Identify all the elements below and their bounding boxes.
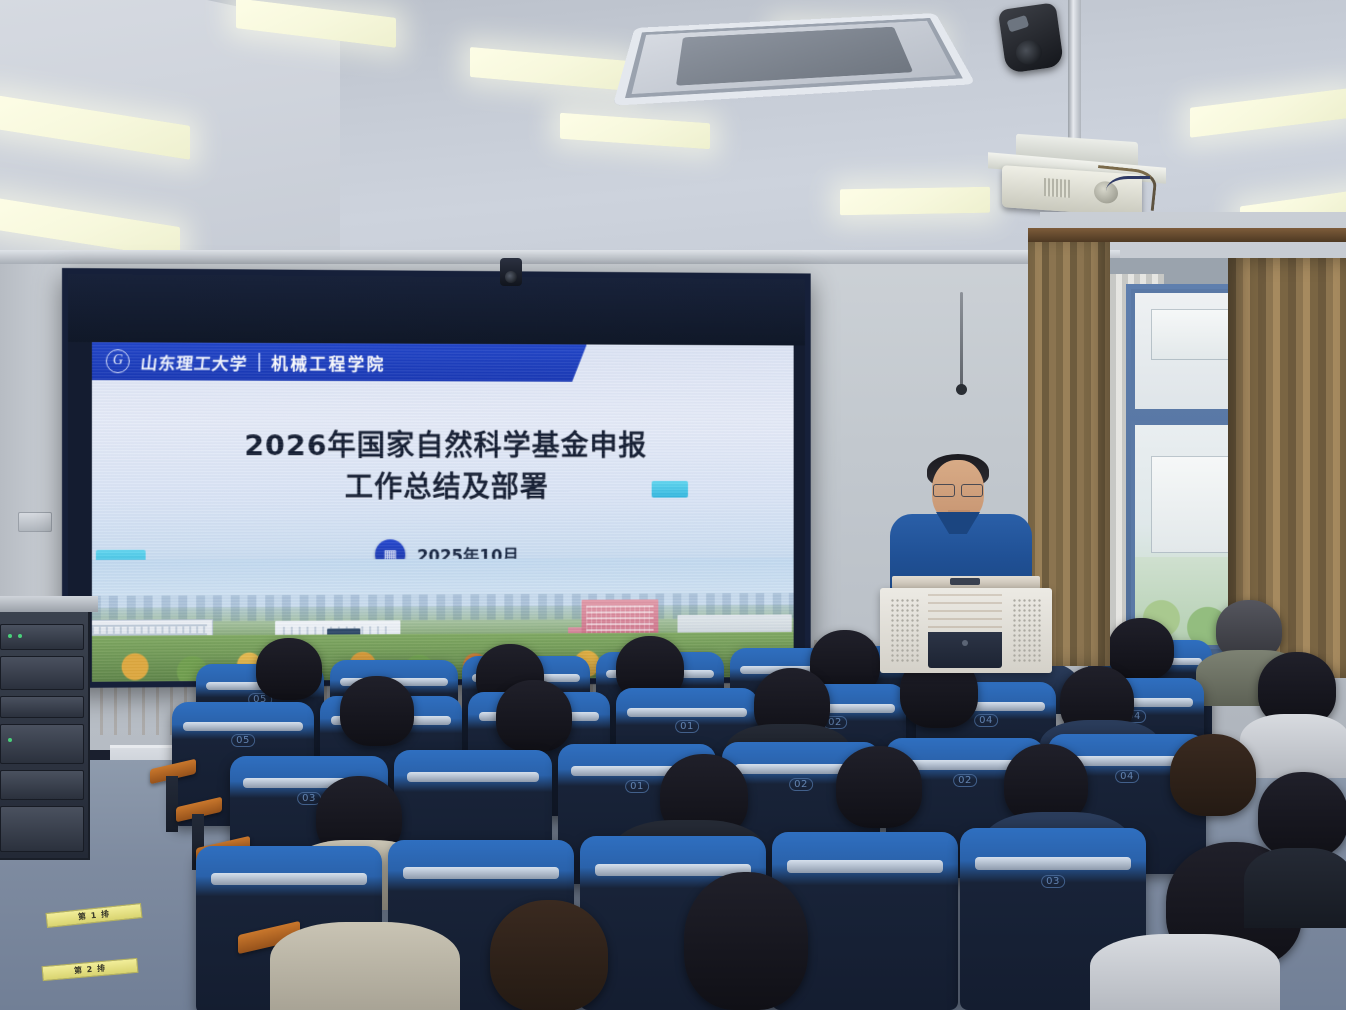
university-name: 山东理工大学 — [139, 349, 248, 374]
seat-number: 02 — [789, 778, 813, 791]
audience-head — [496, 680, 572, 752]
podium-speaker-grille — [890, 598, 920, 662]
department-name: 机械工程学院 — [271, 349, 386, 374]
audience-head — [1258, 772, 1346, 858]
audience-shoulders — [270, 922, 460, 1010]
seat-armrest-post — [166, 776, 178, 832]
podium-wood-panel — [928, 594, 1002, 630]
slide-title-block: 2026年国家自然科学基金申报 工作总结及部署 — [92, 424, 794, 508]
university-logo-icon: G — [106, 349, 130, 373]
audience-head — [256, 638, 322, 700]
rack-unit[interactable] — [0, 770, 84, 800]
slide-title-line-2: 工作总结及部署 — [92, 466, 794, 508]
seat-chrome-trim — [211, 873, 367, 885]
podium — [880, 588, 1052, 673]
slide-header-bar: G 山东理工大学 机械工程学院 — [92, 342, 587, 382]
podium-control-panel[interactable] — [928, 632, 1002, 668]
led-presentation-screen[interactable]: G 山东理工大学 机械工程学院 2026年国家自然科学基金申报 工作总结及部署 … — [62, 268, 811, 688]
seat-number: 01 — [675, 720, 699, 733]
projector-cable — [1106, 176, 1150, 206]
audience-head — [340, 676, 414, 746]
projector-pole — [1068, 0, 1081, 142]
conference-room-scene: G 山东理工大学 机械工程学院 2026年国家自然科学基金申报 工作总结及部署 … — [0, 0, 1346, 1010]
ceiling-ac-unit — [613, 13, 976, 106]
podium-microphone — [950, 578, 980, 585]
podium-and-speaker — [872, 452, 1062, 672]
ceiling-light-panel — [840, 187, 990, 216]
ceiling-light-panel — [470, 47, 630, 91]
audience-head — [684, 872, 808, 1010]
wall-trim — [0, 250, 1120, 264]
rack-unit[interactable] — [0, 724, 84, 764]
seat-number: 03 — [1041, 875, 1065, 888]
seat-chrome-trim — [787, 860, 943, 872]
ceiling-light-panel — [560, 113, 710, 149]
audience-shoulders — [1090, 934, 1280, 1010]
ceiling-light-panel — [1190, 88, 1346, 137]
seat-chrome-trim — [975, 857, 1131, 870]
glasses-icon — [932, 484, 984, 495]
seat-number: 01 — [625, 780, 649, 793]
audience-shoulders — [1240, 714, 1346, 778]
wall-socket[interactable] — [18, 512, 52, 532]
podium-speaker-grille — [1012, 598, 1042, 662]
rack-status-led — [18, 634, 22, 638]
rack-status-led — [8, 634, 12, 638]
slide-title-line-1: 2026年国家自然科学基金申报 — [92, 424, 794, 466]
rack-unit[interactable] — [0, 656, 84, 690]
rack-unit[interactable] — [0, 806, 84, 852]
equipment-rack[interactable] — [0, 608, 90, 860]
rack-status-led — [8, 738, 12, 742]
slide-accent-block — [652, 481, 688, 498]
equipment-rack-top — [0, 596, 98, 612]
seat-chrome-trim — [627, 708, 746, 717]
seat-number: 04 — [974, 714, 998, 727]
audience-head — [836, 746, 922, 828]
audience-head — [490, 900, 608, 1010]
projector-vent — [1044, 178, 1070, 198]
audience-shoulders — [1244, 848, 1346, 928]
seat-chrome-trim — [403, 867, 559, 879]
seat-chrome-trim — [183, 722, 302, 731]
seat-number: 02 — [953, 774, 977, 787]
screen-bezel-top — [68, 274, 805, 345]
security-camera-icon — [998, 2, 1064, 73]
hanging-microphone — [960, 292, 963, 387]
seat-number: 05 — [231, 734, 255, 747]
presentation-slide: G 山东理工大学 机械工程学院 2026年国家自然科学基金申报 工作总结及部署 … — [92, 342, 794, 688]
header-divider — [258, 352, 260, 371]
rack-unit[interactable] — [0, 624, 84, 650]
rack-unit[interactable] — [0, 696, 84, 718]
seat-number: 04 — [1115, 770, 1139, 783]
audience-head — [1170, 734, 1256, 816]
curtain-rod — [1028, 228, 1346, 242]
wall-camera-icon — [500, 258, 522, 286]
seat-chrome-trim — [407, 772, 540, 782]
